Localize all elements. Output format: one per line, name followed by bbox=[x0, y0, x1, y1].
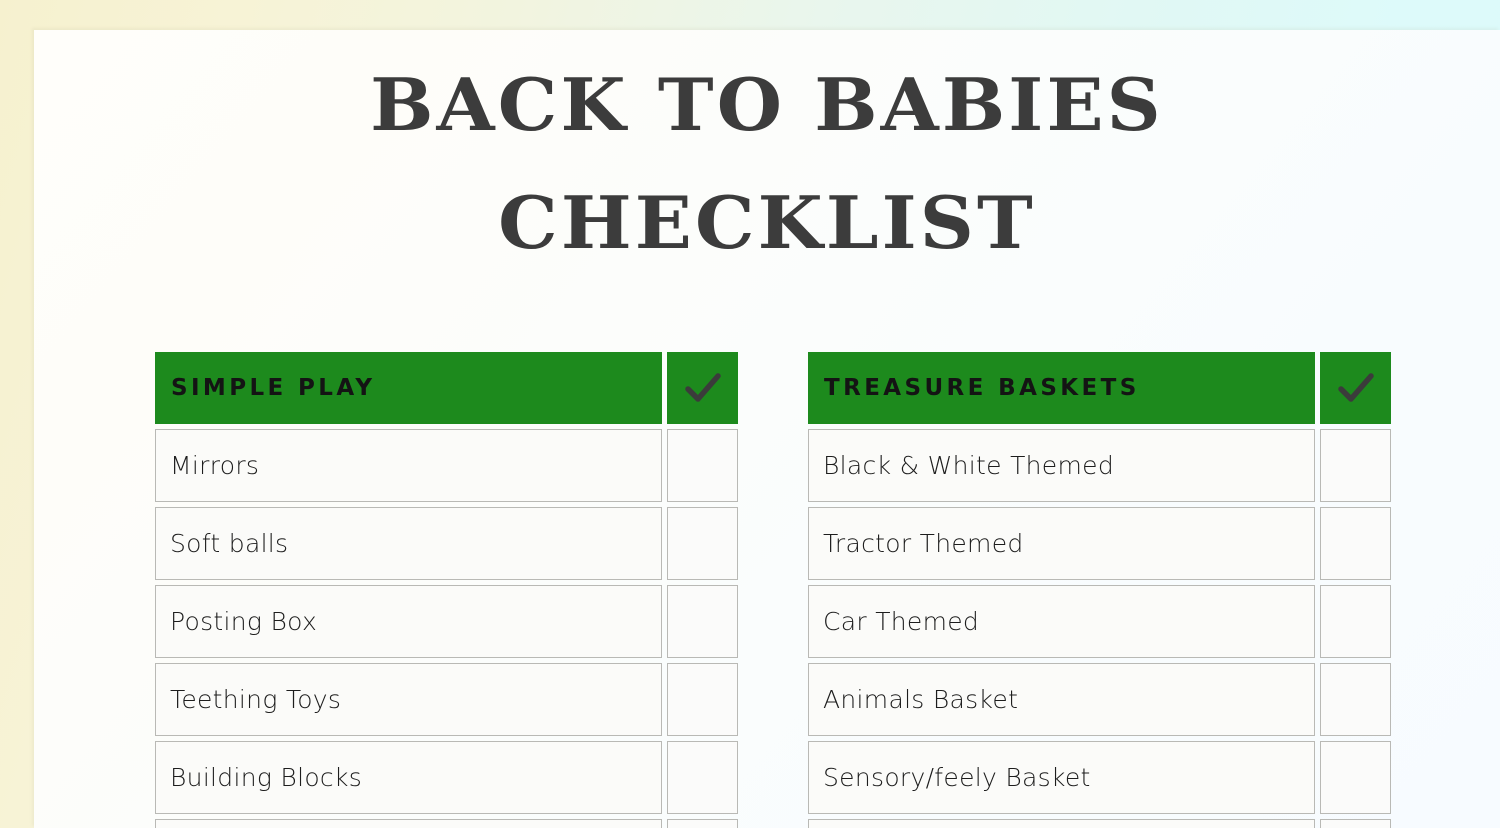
checklist-item-label: Posting Box bbox=[155, 585, 662, 658]
table-header-label: Treasure Baskets bbox=[808, 352, 1315, 424]
checklist-item-label: Mirrors bbox=[155, 429, 662, 502]
check-icon bbox=[1336, 368, 1376, 408]
table-row: Building Blocks bbox=[155, 741, 738, 814]
table-header-row: Treasure Baskets bbox=[808, 352, 1391, 424]
table-row: Tractor Themed bbox=[808, 507, 1391, 580]
table-header-row: Simple Play bbox=[155, 352, 738, 424]
checklist-item-label: Car Themed bbox=[808, 585, 1315, 658]
page-title-line-1: Back to Babies bbox=[34, 46, 1500, 164]
table-row: Posting Box bbox=[155, 585, 738, 658]
table-row: Teething Toys bbox=[155, 663, 738, 736]
checklist-item-checkbox[interactable] bbox=[667, 663, 738, 736]
checklist-item-label: Soft balls bbox=[155, 507, 662, 580]
checklist-item-checkbox[interactable] bbox=[667, 429, 738, 502]
checklist-item-checkbox[interactable] bbox=[1320, 429, 1391, 502]
table-row bbox=[155, 819, 738, 828]
page-canvas: Back to Babies Checklist Simple PlayMirr… bbox=[0, 0, 1500, 828]
checklist-item-label: Animals Basket bbox=[808, 663, 1315, 736]
checklist-sheet: Back to Babies Checklist Simple PlayMirr… bbox=[34, 30, 1500, 828]
checklist-tables: Simple PlayMirrorsSoft ballsPosting BoxT… bbox=[155, 352, 1495, 828]
page-title: Back to Babies Checklist bbox=[34, 46, 1500, 282]
checklist-item-checkbox[interactable] bbox=[667, 585, 738, 658]
table-header-check-cell bbox=[1320, 352, 1391, 424]
checklist-table-treasure-baskets: Treasure BasketsBlack & White ThemedTrac… bbox=[808, 352, 1391, 828]
table-header-label: Simple Play bbox=[155, 352, 662, 424]
checklist-item-checkbox[interactable] bbox=[1320, 663, 1391, 736]
checklist-item-checkbox[interactable] bbox=[667, 819, 738, 828]
table-row: Black & White Themed bbox=[808, 429, 1391, 502]
checklist-item-label: Sensory/feely Basket bbox=[808, 741, 1315, 814]
checklist-table-simple-play: Simple PlayMirrorsSoft ballsPosting BoxT… bbox=[155, 352, 738, 828]
checklist-item-label bbox=[808, 819, 1315, 828]
table-row: Sensory/feely Basket bbox=[808, 741, 1391, 814]
checklist-item-label bbox=[155, 819, 662, 828]
table-header-check-cell bbox=[667, 352, 738, 424]
checklist-item-label: Building Blocks bbox=[155, 741, 662, 814]
checklist-item-label: Black & White Themed bbox=[808, 429, 1315, 502]
table-row bbox=[808, 819, 1391, 828]
table-row: Animals Basket bbox=[808, 663, 1391, 736]
checklist-item-checkbox[interactable] bbox=[1320, 819, 1391, 828]
checklist-item-checkbox[interactable] bbox=[667, 741, 738, 814]
check-icon bbox=[683, 368, 723, 408]
checklist-item-label: Teething Toys bbox=[155, 663, 662, 736]
table-row: Car Themed bbox=[808, 585, 1391, 658]
checklist-item-checkbox[interactable] bbox=[1320, 585, 1391, 658]
checklist-item-checkbox[interactable] bbox=[667, 507, 738, 580]
table-row: Mirrors bbox=[155, 429, 738, 502]
page-title-line-2: Checklist bbox=[34, 164, 1500, 282]
table-row: Soft balls bbox=[155, 507, 738, 580]
checklist-item-label: Tractor Themed bbox=[808, 507, 1315, 580]
checklist-item-checkbox[interactable] bbox=[1320, 741, 1391, 814]
checklist-item-checkbox[interactable] bbox=[1320, 507, 1391, 580]
